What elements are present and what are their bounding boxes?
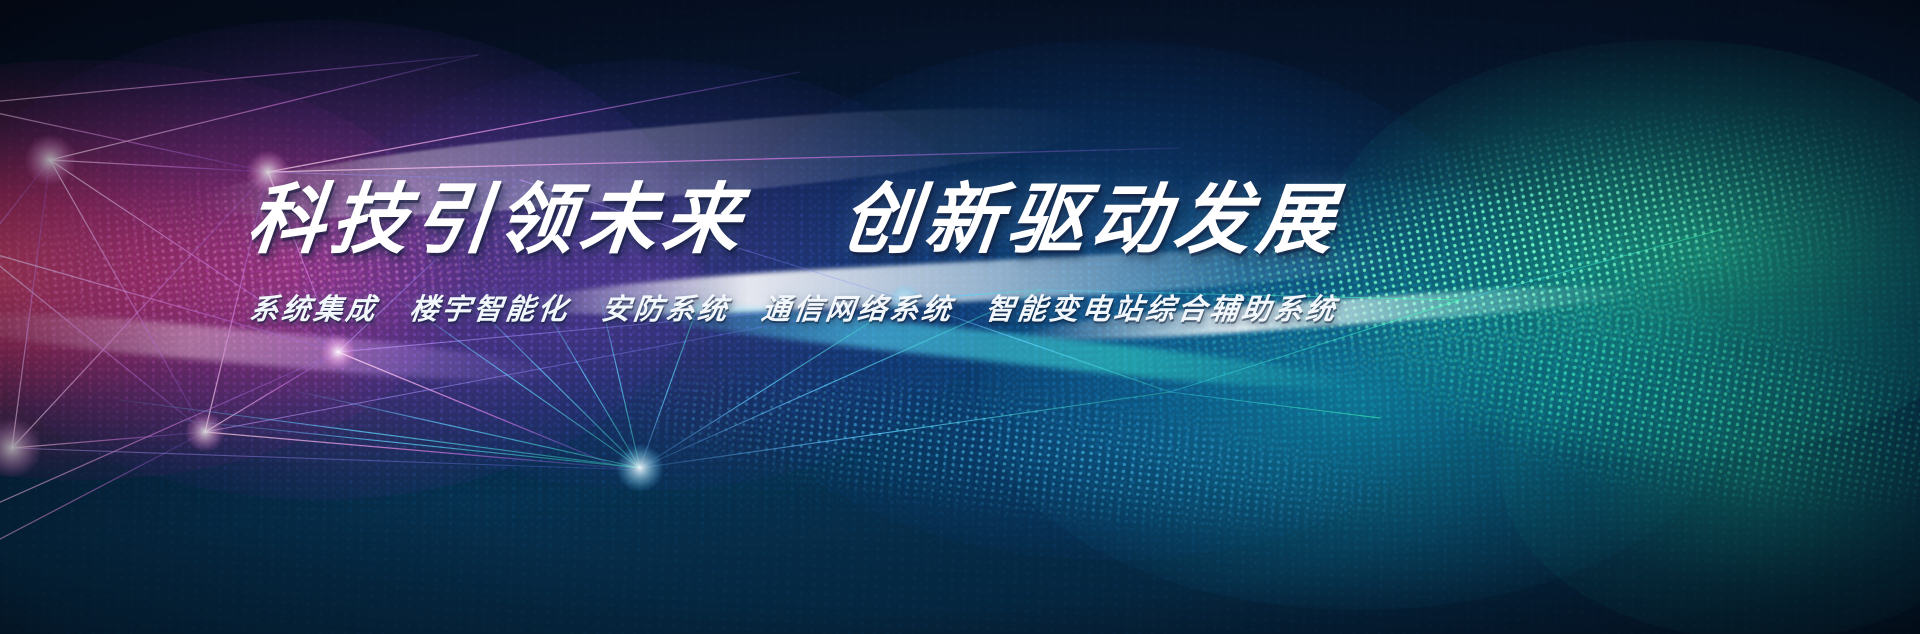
halftone-field-base (0, 0, 1920, 634)
tech-banner: 科技引领未来 创新驱动发展 系统集成 楼宇智能化 安防系统 通信网络系统 智能变… (0, 0, 1920, 634)
